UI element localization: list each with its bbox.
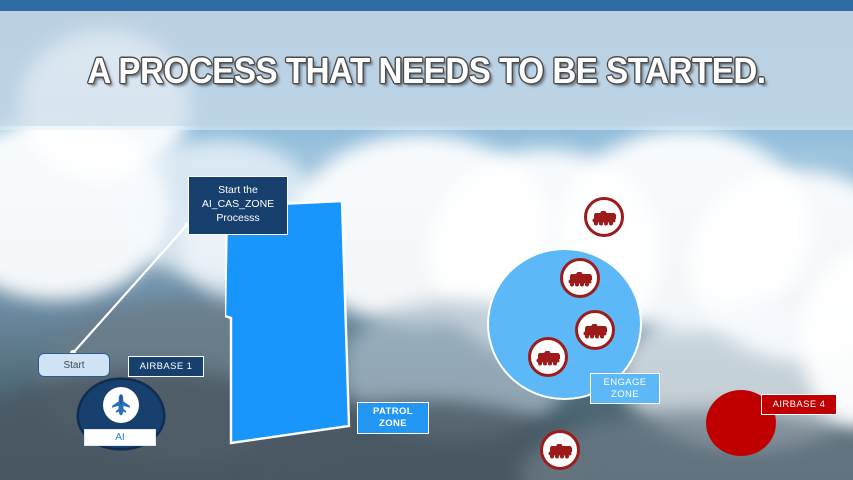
- airbase-4-label[interactable]: AIRBASE 4: [761, 394, 837, 415]
- callout-line-3: Processs: [195, 212, 281, 226]
- page-title: A PROCESS THAT NEEDS TO BE STARTED.: [34, 50, 819, 92]
- callout-line-1: Start the: [195, 184, 281, 198]
- process-callout-box[interactable]: Start the AI_CAS_ZONE Processs: [188, 176, 288, 235]
- enemy-marker[interactable]: [540, 430, 580, 470]
- armored-vehicle-icon: [535, 349, 561, 366]
- enemy-marker[interactable]: [560, 258, 600, 298]
- airbase-1-label-text: AIRBASE 1: [140, 361, 193, 373]
- slide-canvas: Start the AI_CAS_ZONE Processs Start AI …: [0, 0, 853, 480]
- ai-unit-label-box: AI: [84, 429, 156, 446]
- start-node-label: Start: [63, 360, 84, 371]
- engage-zone-label[interactable]: ENGAGE ZONE: [590, 373, 660, 404]
- armored-vehicle-icon: [547, 442, 573, 459]
- fighter-jet-icon: [103, 387, 139, 423]
- armored-vehicle-icon: [582, 322, 608, 339]
- top-accent-strip: [0, 0, 853, 11]
- engage-zone-label-line-1: ENGAGE: [603, 377, 646, 389]
- enemy-marker[interactable]: [584, 197, 624, 237]
- armored-vehicle-icon: [567, 270, 593, 287]
- patrol-zone-label-line-1: PATROL: [373, 406, 413, 418]
- patrol-zone-label-line-2: ZONE: [379, 418, 407, 430]
- engage-zone-label-line-2: ZONE: [611, 389, 639, 401]
- armored-vehicle-icon: [591, 209, 617, 226]
- start-node[interactable]: Start: [38, 353, 110, 377]
- title-band-underline: [0, 126, 853, 130]
- enemy-marker[interactable]: [575, 310, 615, 350]
- callout-line-2: AI_CAS_ZONE: [195, 198, 281, 212]
- enemy-marker[interactable]: [528, 337, 568, 377]
- airbase-1-label[interactable]: AIRBASE 1: [128, 356, 204, 377]
- airbase-4-label-text: AIRBASE 4: [773, 399, 826, 411]
- ai-unit-label: AI: [115, 432, 124, 443]
- patrol-zone-label[interactable]: PATROL ZONE: [357, 402, 429, 434]
